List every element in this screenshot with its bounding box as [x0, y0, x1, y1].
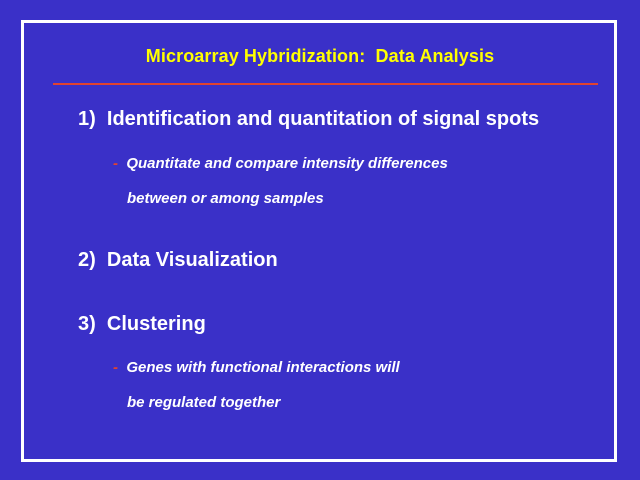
- list-item-3-subbullet-1-continuation: be regulated together: [127, 394, 280, 411]
- list-item-1-subbullet-1-label: Quantitate and compare intensity differe…: [126, 155, 447, 172]
- list-item-3: 3) Clustering: [78, 313, 206, 336]
- list-item-2: 2) Data Visualization: [78, 249, 278, 272]
- list-item-3-subbullet-1: - Genes with functional interactions wil…: [113, 359, 400, 376]
- list-item-1-subbullet-1-continuation: between or among samples: [127, 190, 324, 207]
- list-item-3-subbullet-1-label: Genes with functional interactions will: [126, 359, 399, 376]
- list-item-1-subbullet-1: - Quantitate and compare intensity diffe…: [113, 155, 448, 172]
- list-item-1: 1) Identification and quantitation of si…: [78, 108, 539, 131]
- bullet-dash-icon: -: [113, 359, 126, 376]
- slide-canvas: Microarray Hybridization: Data Analysis …: [0, 0, 640, 480]
- bullet-dash-icon: -: [113, 155, 126, 172]
- slide-body: 1) Identification and quantitation of si…: [0, 0, 640, 480]
